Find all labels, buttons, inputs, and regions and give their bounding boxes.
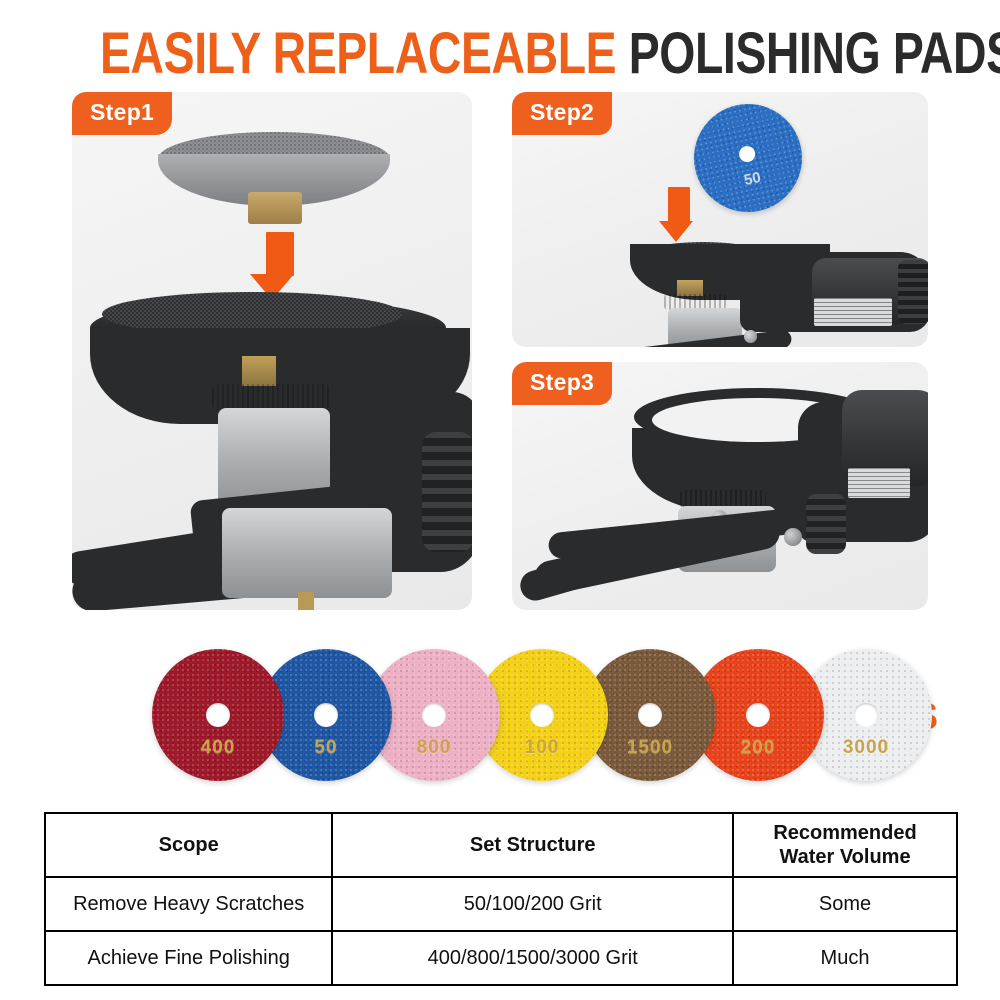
spec-table-wrapper: Scope Set Structure Recommended Water Vo… xyxy=(44,812,958,986)
pad-center-hole xyxy=(206,703,230,727)
machine-grip-ribs xyxy=(422,432,472,552)
pad-center-hole xyxy=(314,703,338,727)
machine-base-plate xyxy=(222,508,392,598)
pad-center-hole xyxy=(422,703,446,727)
pad-center-hole xyxy=(530,703,554,727)
pad-center-hole xyxy=(854,703,878,727)
table-row: Achieve Fine Polishing 400/800/1500/3000… xyxy=(45,931,957,985)
step2-panel: 50 Step2 xyxy=(512,92,928,347)
table-header-row: Scope Set Structure Recommended Water Vo… xyxy=(45,813,957,877)
page-title-accent: EASILY REPLACEABLE xyxy=(100,21,616,86)
machine-shaft-brass xyxy=(242,356,276,386)
table-header-water: Recommended Water Volume xyxy=(733,813,957,877)
row2-structure: 400/800/1500/3000 Grit xyxy=(332,931,733,985)
step3-panel: Step3 xyxy=(512,362,928,610)
step2-badge: Step2 xyxy=(512,92,612,135)
step3-badge: Step3 xyxy=(512,362,612,405)
pad-grit-label: 400 xyxy=(152,737,284,759)
machine-screw-side xyxy=(784,528,802,546)
table-header-water-line1: Recommended xyxy=(734,821,956,845)
machine-label-sticker xyxy=(848,468,910,498)
step1-panel: Step1 xyxy=(72,92,472,610)
row1-scope: Remove Heavy Scratches xyxy=(45,877,332,931)
row1-structure: 50/100/200 Grit xyxy=(332,877,733,931)
table-header-scope: Scope xyxy=(45,813,332,877)
backing-pad-hub xyxy=(248,192,302,224)
machine-grip-ribs xyxy=(806,494,846,554)
step1-photo xyxy=(72,92,472,610)
machine-label-sticker xyxy=(814,298,892,326)
pad-row: 400 50 800 100 1500 200 xyxy=(0,640,1000,790)
pad-center-hole xyxy=(746,703,770,727)
machine-vent-fins xyxy=(898,260,928,324)
infographic-page: EASILY REPLACEABLE POLISHING PADS xyxy=(0,0,1000,1000)
pad-item: 400 xyxy=(152,649,284,781)
page-title-dark: POLISHING PADS xyxy=(629,21,1000,86)
machine-brass-pin xyxy=(298,592,314,610)
table-row: Remove Heavy Scratches 50/100/200 Grit S… xyxy=(45,877,957,931)
blue-pad-grit-label: 50 xyxy=(698,159,807,198)
step1-badge: Step1 xyxy=(72,92,172,135)
page-title: EASILY REPLACEABLE POLISHING PADS xyxy=(100,24,900,84)
table-header-structure: Set Structure xyxy=(332,813,733,877)
blue-pad-50: 50 xyxy=(684,94,812,222)
spec-table: Scope Set Structure Recommended Water Vo… xyxy=(44,812,958,986)
machine-screw xyxy=(744,330,757,343)
row2-water: Much xyxy=(733,931,957,985)
machine-gear-collar xyxy=(212,384,330,410)
row1-water: Some xyxy=(733,877,957,931)
table-header-water-line2: Water Volume xyxy=(734,845,956,869)
pad-center-hole xyxy=(638,703,662,727)
row2-scope: Achieve Fine Polishing xyxy=(45,931,332,985)
